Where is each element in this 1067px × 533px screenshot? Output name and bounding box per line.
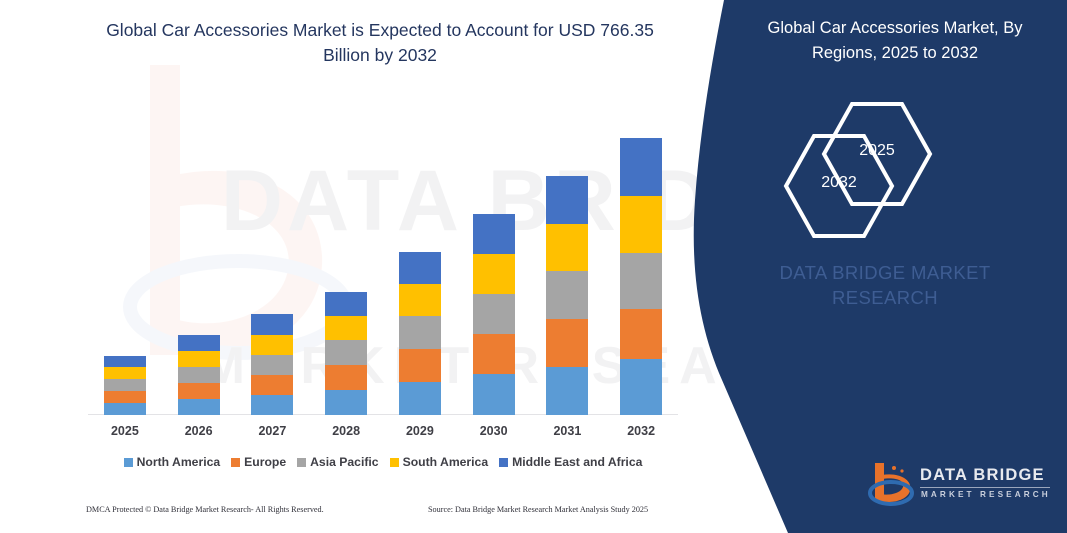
legend-item-south-america[interactable]: South America (390, 455, 489, 469)
bar-segment-2029-asia-pacific (399, 316, 441, 349)
bar-segment-2026-europe (178, 383, 220, 399)
data-bridge-logo-icon (867, 461, 917, 507)
footer-source: Source: Data Bridge Market Research Mark… (428, 505, 648, 514)
right-panel-title: Global Car Accessories Market, By Region… (740, 16, 1050, 66)
bar-segment-2026-asia-pacific (178, 367, 220, 383)
x-axis-labels: 20252026202720282029203020312032 (88, 424, 678, 444)
bar-2032[interactable] (620, 138, 662, 415)
legend-item-asia-pacific[interactable]: Asia Pacific (297, 455, 378, 469)
footer: DMCA Protected © Data Bridge Market Rese… (0, 505, 700, 525)
bar-segment-2032-middle-east-and-africa (620, 138, 662, 196)
bar-segment-2028-south-america (325, 316, 367, 340)
bar-2027[interactable] (251, 314, 293, 415)
bar-segment-2031-middle-east-and-africa (546, 176, 588, 224)
bar-segment-2025-europe (104, 391, 146, 403)
x-axis-label-2027: 2027 (242, 424, 302, 438)
bar-segment-2029-north-america (399, 382, 441, 415)
legend-label: Europe (244, 455, 286, 469)
logo-text-secondary: MARKET RESEARCH (921, 490, 1051, 499)
legend-swatch-icon (297, 458, 306, 467)
legend-item-europe[interactable]: Europe (231, 455, 286, 469)
bar-segment-2030-asia-pacific (473, 294, 515, 334)
legend-label: Asia Pacific (310, 455, 378, 469)
x-axis-label-2030: 2030 (464, 424, 524, 438)
bar-segment-2025-middle-east-and-africa (104, 356, 146, 367)
bar-segment-2029-middle-east-and-africa (399, 252, 441, 284)
legend-swatch-icon (124, 458, 133, 467)
bar-segment-2027-north-america (251, 395, 293, 415)
legend-swatch-icon (390, 458, 399, 467)
bar-segment-2027-middle-east-and-africa (251, 314, 293, 335)
bar-2030[interactable] (473, 214, 515, 415)
bar-segment-2028-europe (325, 365, 367, 390)
logo-text-primary: DATA BRIDGE (920, 466, 1045, 485)
bar-segment-2032-north-america (620, 359, 662, 415)
bar-2026[interactable] (178, 335, 220, 415)
bar-segment-2030-north-america (473, 374, 515, 415)
stacked-bar-chart (88, 110, 678, 415)
x-axis-label-2032: 2032 (611, 424, 671, 438)
bar-segment-2031-europe (546, 319, 588, 367)
legend-label: South America (403, 455, 489, 469)
x-axis-label-2028: 2028 (316, 424, 376, 438)
bar-segment-2032-south-america (620, 196, 662, 253)
x-axis-label-2029: 2029 (390, 424, 450, 438)
page-title: Global Car Accessories Market is Expecte… (90, 18, 670, 69)
right-panel-content: Global Car Accessories Market, By Region… (700, 0, 1067, 533)
bar-segment-2031-south-america (546, 224, 588, 271)
legend-swatch-icon (499, 458, 508, 467)
bar-2031[interactable] (546, 176, 588, 415)
bar-segment-2026-north-america (178, 399, 220, 415)
legend-item-middle-east-and-africa[interactable]: Middle East and Africa (499, 455, 642, 469)
bar-segment-2027-asia-pacific (251, 355, 293, 375)
bar-segment-2025-south-america (104, 367, 146, 379)
hexagon-2032-label: 2032 (804, 174, 874, 192)
bar-segment-2026-middle-east-and-africa (178, 335, 220, 351)
bar-segment-2028-north-america (325, 390, 367, 415)
legend-label: North America (137, 455, 221, 469)
footer-copyright: DMCA Protected © Data Bridge Market Rese… (86, 505, 324, 514)
bar-segment-2028-middle-east-and-africa (325, 292, 367, 316)
bar-segment-2025-north-america (104, 403, 146, 415)
legend-item-north-america[interactable]: North America (124, 455, 221, 469)
bar-2025[interactable] (104, 356, 146, 415)
bar-2028[interactable] (325, 292, 367, 415)
chart-legend: North AmericaEuropeAsia PacificSouth Ame… (88, 455, 678, 469)
x-axis-label-2031: 2031 (537, 424, 597, 438)
bar-2029[interactable] (399, 252, 441, 415)
bar-segment-2027-europe (251, 375, 293, 395)
x-axis-label-2025: 2025 (95, 424, 155, 438)
bar-segment-2026-south-america (178, 351, 220, 367)
bar-segment-2030-europe (473, 334, 515, 374)
bar-segment-2028-asia-pacific (325, 340, 367, 365)
bar-segment-2032-europe (620, 309, 662, 359)
bar-segment-2030-south-america (473, 254, 515, 294)
bar-segment-2032-asia-pacific (620, 253, 662, 309)
bar-segment-2029-europe (399, 349, 441, 382)
bar-segment-2027-south-america (251, 335, 293, 355)
hexagon-group: 2025 2032 (780, 98, 980, 216)
company-logo: DATA BRIDGE MARKET RESEARCH (875, 460, 1060, 508)
bar-segment-2030-middle-east-and-africa (473, 214, 515, 254)
bar-segment-2029-south-america (399, 284, 441, 316)
infographic-root: DATA BRIDGE MARKET RESEARCH Global Car A… (0, 0, 1067, 533)
bar-segment-2031-north-america (546, 367, 588, 415)
logo-divider (920, 487, 1050, 488)
bar-segment-2031-asia-pacific (546, 271, 588, 319)
legend-label: Middle East and Africa (512, 455, 642, 469)
brand-name-text: DATA BRIDGE MARKET RESEARCH (725, 261, 1045, 311)
bar-segment-2025-asia-pacific (104, 379, 146, 391)
x-axis-label-2026: 2026 (169, 424, 229, 438)
legend-swatch-icon (231, 458, 240, 467)
